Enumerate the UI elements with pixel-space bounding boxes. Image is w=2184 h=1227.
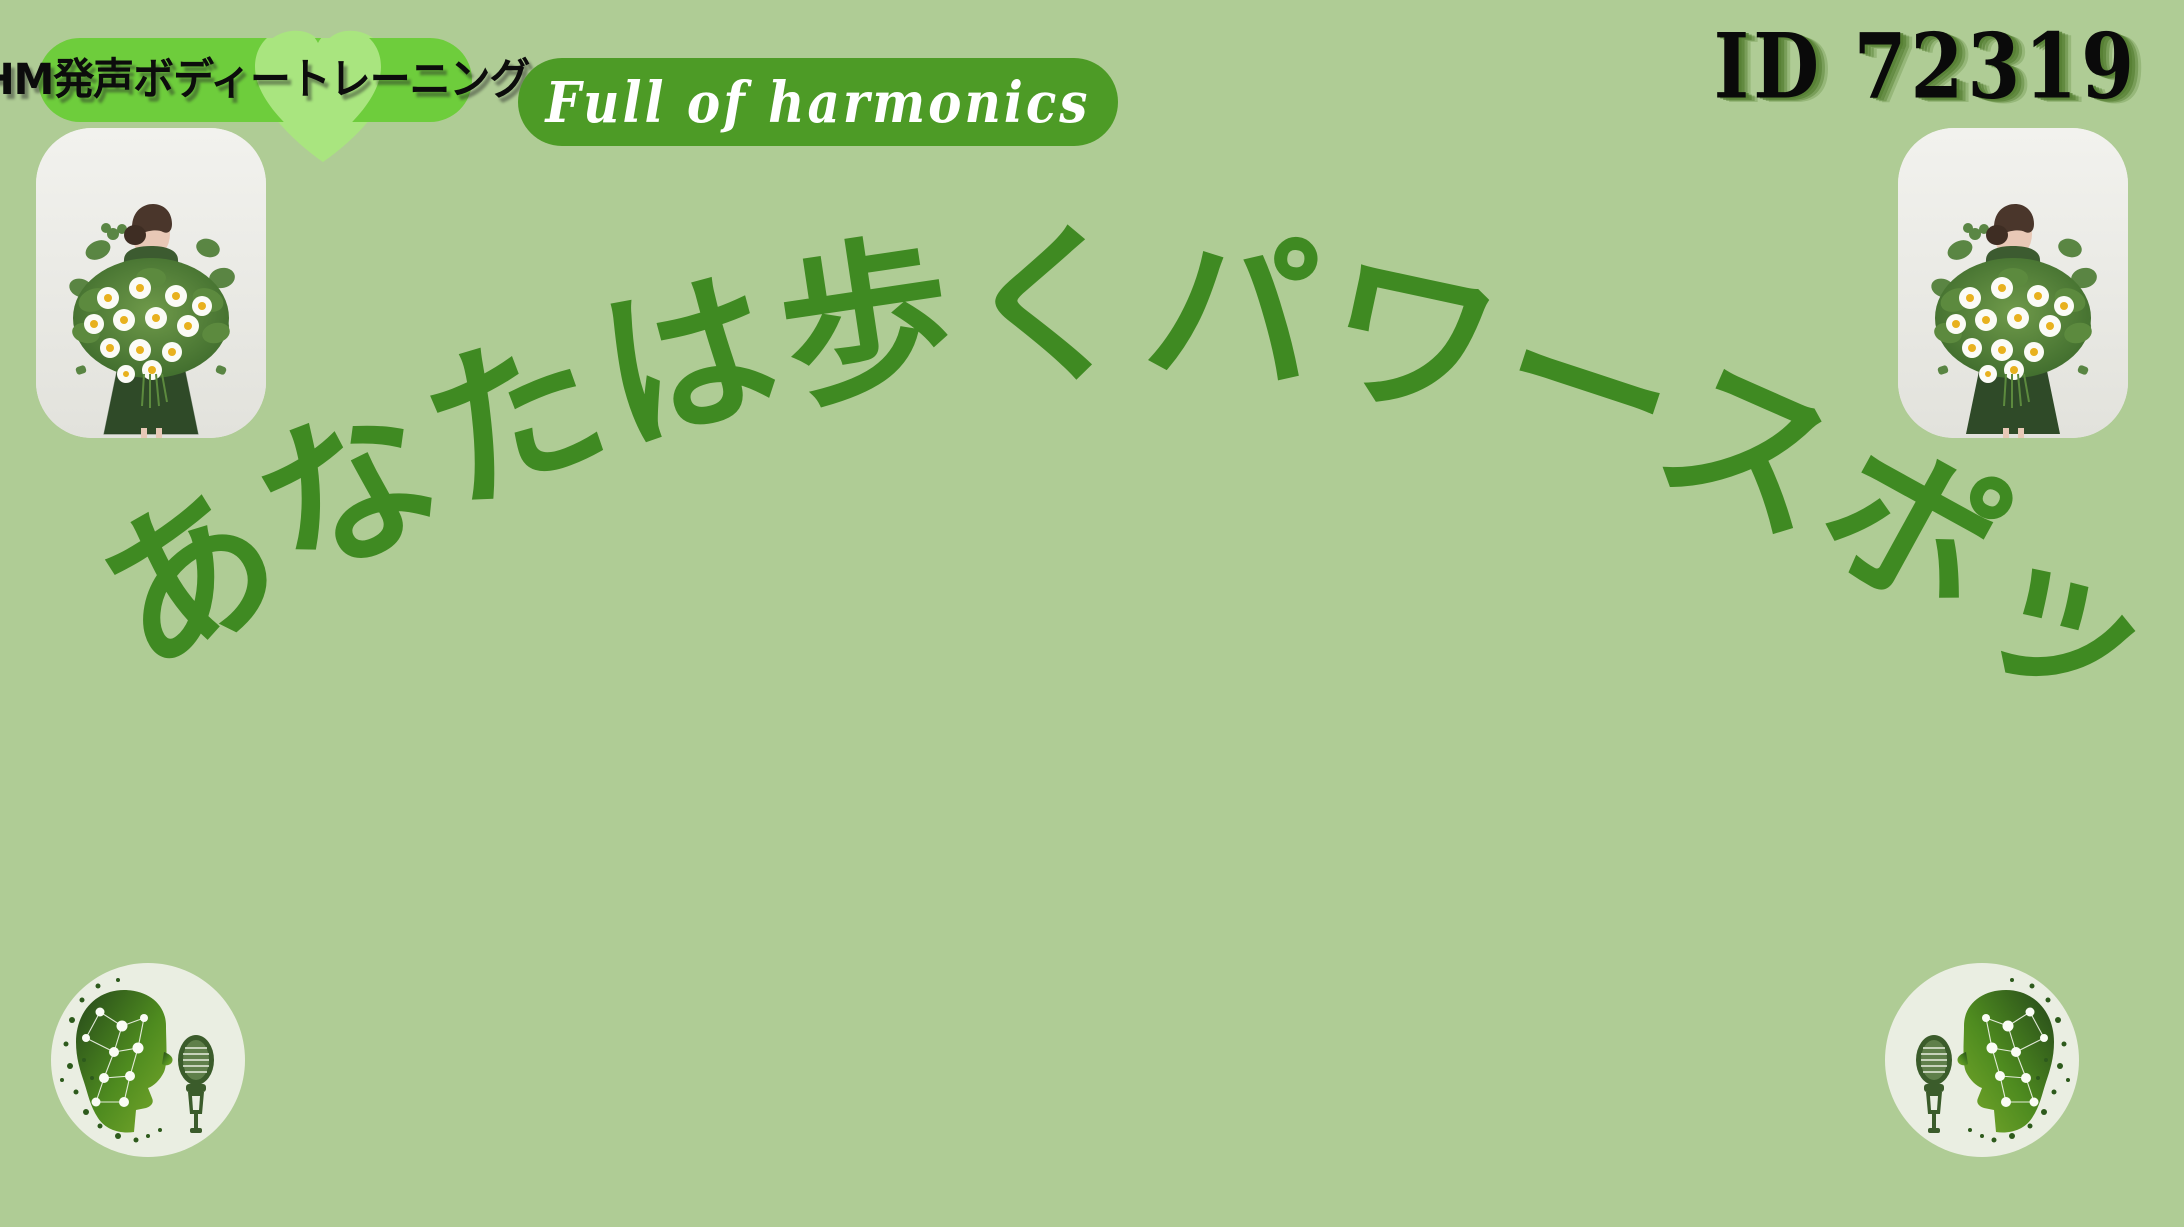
voice-profile-microphone-icon-right: [1882, 960, 2082, 1160]
photo-card-right: [1898, 128, 2128, 438]
voice-profile-microphone-icon-left: [48, 960, 248, 1160]
head-profile-microphone-icon: [1882, 960, 2082, 1160]
training-badge[interactable]: HM発声ボディートレーニング: [38, 38, 472, 122]
woman-with-daisy-bouquet-image: [1898, 128, 2128, 438]
photo-card-left: [36, 128, 266, 438]
head-profile-microphone-icon: [48, 960, 248, 1160]
training-badge-label: HM発声ボディートレーニング: [0, 59, 529, 102]
headline-text: あなたは歩くパワースポット: [0, 150, 2184, 757]
woman-with-daisy-bouquet-image: [36, 128, 266, 438]
harmonics-badge-label: Full of harmonics: [546, 69, 1091, 135]
id-label: ID 72319: [1714, 22, 2138, 112]
banner-canvas: HM発声ボディートレーニング Full of harmonics ID 7231…: [0, 0, 2184, 1227]
headline-arch: あなたは歩くパワースポット: [0, 150, 2184, 870]
harmonics-badge[interactable]: Full of harmonics: [518, 58, 1118, 146]
headline-textpath: あなたは歩くパワースポット: [0, 150, 2184, 757]
